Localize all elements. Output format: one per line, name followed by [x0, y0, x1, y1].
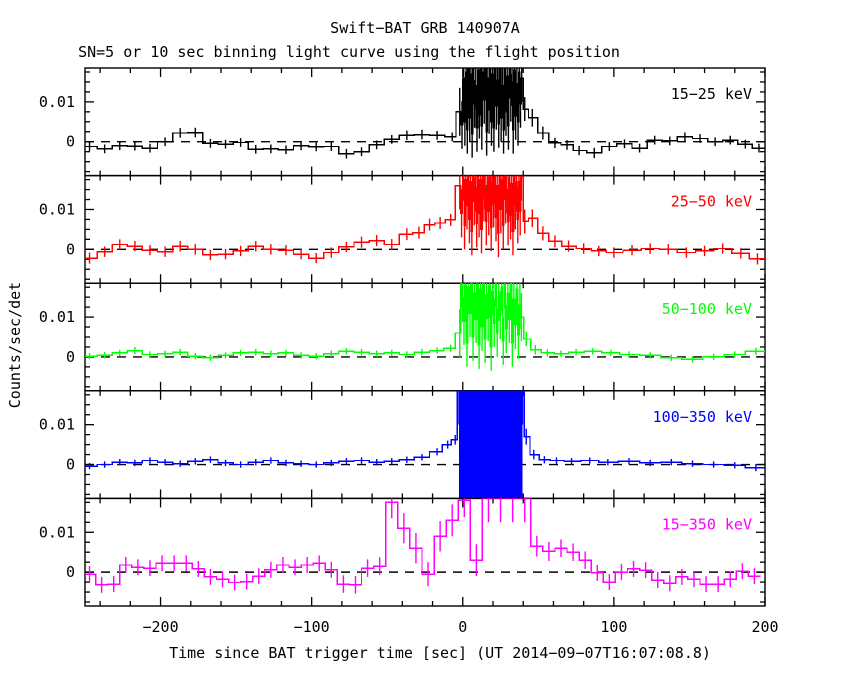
y-tick-label: 0.01	[39, 93, 75, 111]
x-axis-label: Time since BAT trigger time [sec] (UT 20…	[169, 644, 711, 662]
lightcurve-figure: Swift−BAT GRB 140907A SN=5 or 10 sec bin…	[0, 0, 850, 680]
y-tick-label: 0.01	[39, 308, 75, 326]
figure-subtitle: SN=5 or 10 sec binning light curve using…	[78, 43, 620, 61]
band-label-2: 25−50 keV	[671, 193, 752, 211]
x-tick-label: 200	[751, 618, 778, 636]
lightcurve-svg: Swift−BAT GRB 140907A SN=5 or 10 sec bin…	[0, 0, 850, 680]
band-label-3: 50−100 keV	[662, 300, 752, 318]
y-tick-label: 0	[66, 240, 75, 258]
band-label-5: 15−350 keV	[662, 515, 752, 533]
y-tick-label: 0	[66, 563, 75, 581]
y-tick-label: 0.01	[39, 416, 75, 434]
x-tick-label: 0	[458, 618, 467, 636]
band-label-4: 100−350 keV	[653, 408, 752, 426]
y-tick-label: 0.01	[39, 200, 75, 218]
y-axis-label: Counts/sec/det	[6, 282, 24, 408]
x-tick-label: 100	[600, 618, 627, 636]
band-label-1: 15−25 keV	[671, 85, 752, 103]
y-tick-label: 0	[66, 133, 75, 151]
y-tick-label: 0	[66, 456, 75, 474]
y-tick-label: 0.01	[39, 523, 75, 541]
x-tick-label: −100	[294, 618, 330, 636]
figure-title: Swift−BAT GRB 140907A	[330, 19, 520, 37]
y-tick-label: 0	[66, 348, 75, 366]
x-tick-label: −200	[142, 618, 178, 636]
